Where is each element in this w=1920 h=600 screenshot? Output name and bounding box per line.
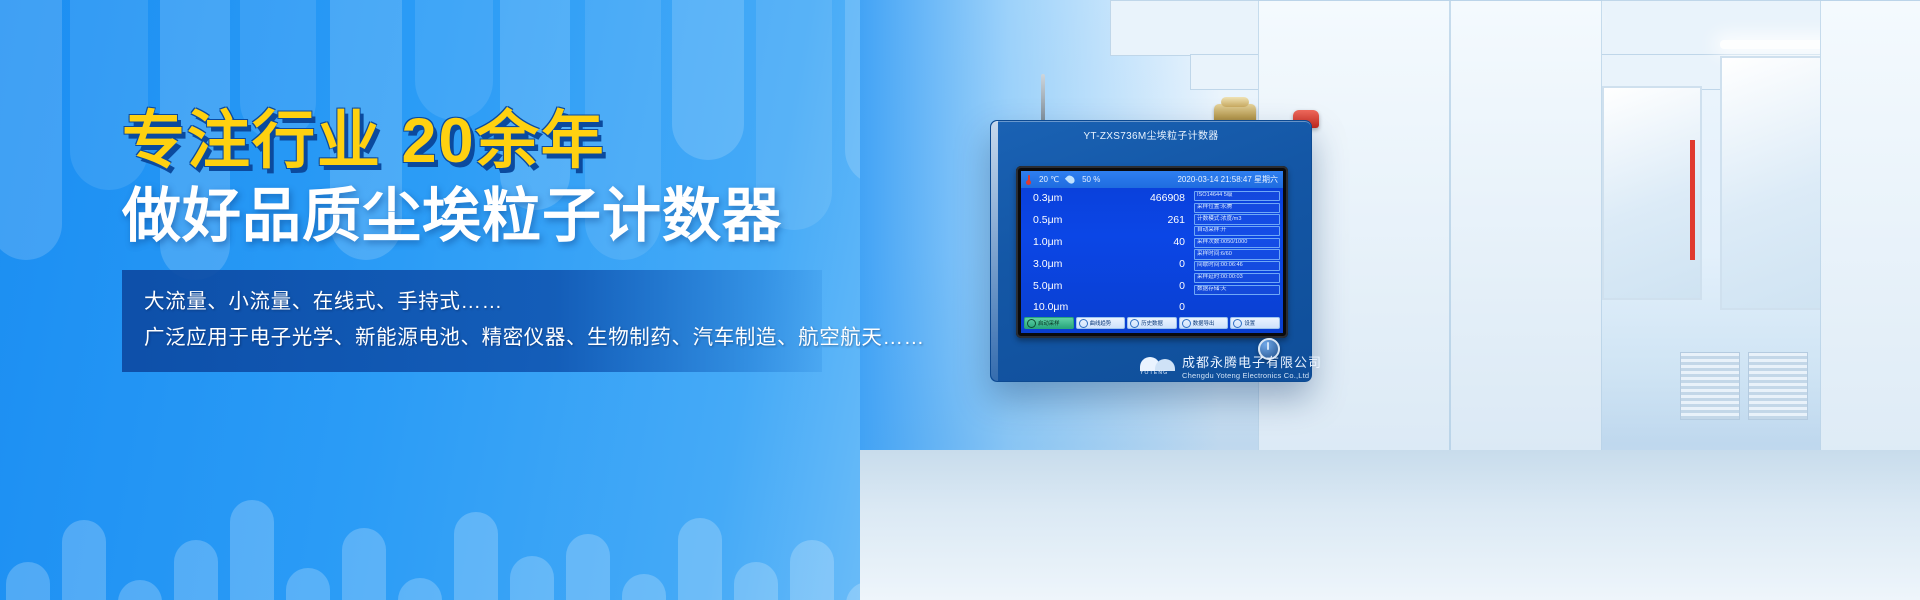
gear-icon — [1233, 319, 1242, 328]
headline-secondary: 做好品质尘埃粒子计数器 — [122, 185, 882, 249]
device-lcd[interactable]: 20 ℃ 50 % 2020-03-14 21:58:47 星期六 0.3μm … — [1021, 171, 1283, 333]
subtitle-line-1: 大流量、小流量、在线式、手持式…… — [144, 284, 822, 320]
particle-size: 1.0μm — [1033, 237, 1062, 248]
list-item[interactable]: ISO14644 5级 — [1194, 191, 1280, 201]
water-drop-icon — [1065, 174, 1076, 185]
device-edge-highlight — [991, 121, 998, 381]
history-data-button[interactable]: 历史数据 — [1127, 317, 1177, 329]
particle-size-table: 0.3μm 466908 0.5μm 261 1.0μm 40 3.0μm 0 — [1021, 188, 1192, 315]
list-item[interactable]: 计数模式:浓度/m3 — [1194, 214, 1280, 224]
table-row: 3.0μm 0 — [1033, 259, 1185, 270]
particle-size: 3.0μm — [1033, 259, 1062, 270]
button-label: 设置 — [1244, 319, 1255, 327]
brand-mark: YOTENG 成都永腾电子有限公司 Chengdu Yoteng Electro… — [1140, 352, 1322, 380]
list-icon — [1130, 319, 1139, 328]
lcd-toolbar: 启动采样 曲线趋势 历史数据 数据导出 设置 — [1021, 315, 1283, 333]
list-item[interactable]: 采样时间:6/60 — [1194, 249, 1280, 259]
chart-icon — [1079, 319, 1088, 328]
parameter-panel: ISO14644 5级 采样位置:永腾 计数模式:浓度/m3 自动采样:开 采样… — [1192, 188, 1283, 315]
yoteng-logo-icon: YOTENG — [1140, 356, 1176, 376]
list-item[interactable]: 采样位置:永腾 — [1194, 203, 1280, 213]
thermometer-icon — [1026, 175, 1031, 185]
button-label: 曲线趋势 — [1090, 319, 1112, 327]
list-item[interactable]: 数据存储:天 — [1194, 285, 1280, 295]
subtitle-band: 大流量、小流量、在线式、手持式…… 广泛应用于电子光学、新能源电池、精密仪器、生… — [122, 270, 822, 372]
list-item[interactable]: 自动采样:开 — [1194, 226, 1280, 236]
particle-count: 0 — [1179, 302, 1185, 313]
promo-banner: 专注行业 20余年 做好品质尘埃粒子计数器 大流量、小流量、在线式、手持式…… … — [0, 0, 1920, 600]
list-item[interactable]: 采样次数:0050/1000 — [1194, 238, 1280, 248]
table-row: 0.5μm 261 — [1033, 215, 1185, 226]
lcd-body: 0.3μm 466908 0.5μm 261 1.0μm 40 3.0μm 0 — [1021, 188, 1283, 315]
datetime-value: 2020-03-14 21:58:47 星期六 — [1177, 174, 1278, 185]
particle-count: 261 — [1167, 215, 1185, 226]
settings-button[interactable]: 设置 — [1230, 317, 1280, 329]
particle-size: 0.5μm — [1033, 215, 1062, 226]
particle-size: 5.0μm — [1033, 281, 1062, 292]
temperature-value: 20 ℃ — [1039, 175, 1059, 184]
button-label: 启动采样 — [1038, 319, 1060, 327]
table-row: 0.3μm 466908 — [1033, 193, 1185, 204]
humidity-value: 50 % — [1082, 175, 1100, 184]
brand-name-cn: 成都永腾电子有限公司 — [1182, 352, 1322, 371]
device-screen-bezel: 20 ℃ 50 % 2020-03-14 21:58:47 星期六 0.3μm … — [1016, 166, 1288, 338]
list-item[interactable]: 采样延时:00:00:03 — [1194, 273, 1280, 283]
headline-primary: 专注行业 20余年 — [122, 108, 882, 175]
button-label: 数据导出 — [1193, 319, 1215, 327]
particle-count: 40 — [1173, 237, 1185, 248]
banner-copy: 专注行业 20余年 做好品质尘埃粒子计数器 大流量、小流量、在线式、手持式…… … — [122, 108, 882, 372]
particle-count: 466908 — [1150, 193, 1185, 204]
start-sampling-button[interactable]: 启动采样 — [1024, 317, 1074, 329]
brand-name-en: Chengdu Yoteng Electronics Co.,Ltd — [1182, 371, 1322, 380]
table-row: 5.0μm 0 — [1033, 281, 1185, 292]
list-item[interactable]: 间歇时间:00:06:46 — [1194, 261, 1280, 271]
particle-count: 0 — [1179, 259, 1185, 270]
logo-wordmark: YOTENG — [1140, 370, 1168, 376]
device-antenna — [1041, 74, 1045, 124]
particle-count: 0 — [1179, 281, 1185, 292]
curve-trend-button[interactable]: 曲线趋势 — [1076, 317, 1126, 329]
lcd-status-bar: 20 ℃ 50 % 2020-03-14 21:58:47 星期六 — [1021, 171, 1283, 188]
table-row: 1.0μm 40 — [1033, 237, 1185, 248]
device-model-label: YT-ZXS736M尘埃粒子计数器 — [991, 127, 1311, 142]
export-data-button[interactable]: 数据导出 — [1179, 317, 1229, 329]
table-row: 10.0μm 0 — [1033, 302, 1185, 313]
subtitle-line-2: 广泛应用于电子光学、新能源电池、精密仪器、生物制药、汽车制造、航空航天…… — [144, 320, 822, 356]
particle-size: 10.0μm — [1033, 302, 1068, 313]
particle-size: 0.3μm — [1033, 193, 1062, 204]
button-label: 历史数据 — [1141, 319, 1163, 327]
play-icon — [1027, 319, 1036, 328]
export-icon — [1182, 319, 1191, 328]
